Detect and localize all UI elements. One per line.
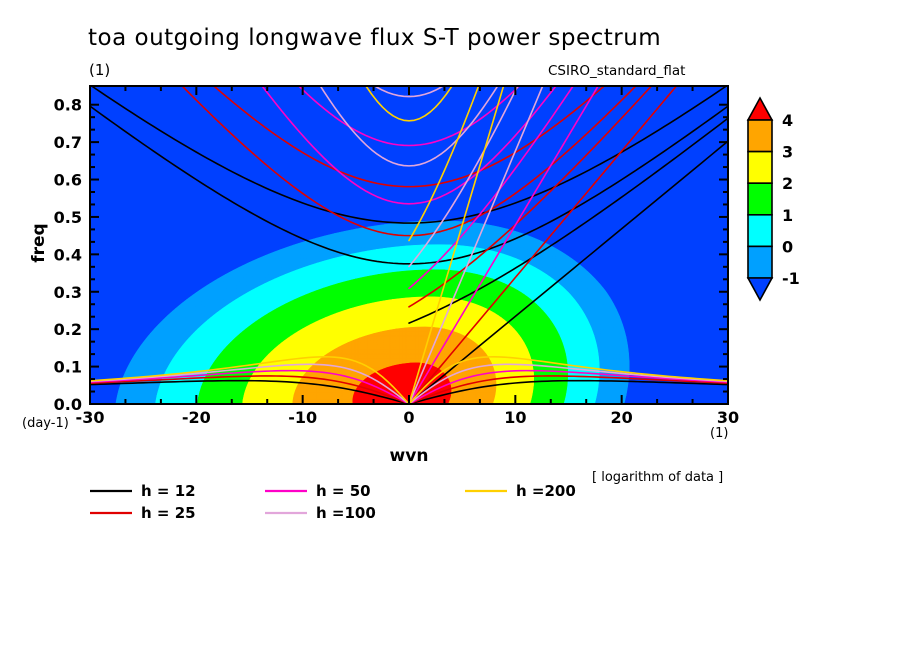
y-tick-label: 0.3 bbox=[54, 283, 82, 302]
power-spectrum-figure: toa outgoing longwave flux S-T power spe… bbox=[0, 0, 904, 654]
colorbar-segment bbox=[748, 246, 772, 278]
dataset-label: CSIRO_standard_flat bbox=[548, 63, 685, 79]
y-axis-unit: (day-1) bbox=[22, 416, 69, 431]
x-tick-label: -20 bbox=[182, 408, 211, 427]
colorbar-segment bbox=[748, 215, 772, 247]
y-axis-tick-labels: 0.00.10.20.30.40.50.60.70.8 bbox=[54, 96, 82, 414]
y-tick-label: 0.4 bbox=[54, 245, 82, 264]
x-tick-label: 30 bbox=[717, 408, 739, 427]
colorbar-swatches bbox=[748, 98, 772, 300]
legend-label: h =200 bbox=[516, 482, 576, 500]
colorbar-tick-label: 3 bbox=[782, 143, 793, 162]
colorbar-tick-label: 1 bbox=[782, 206, 793, 225]
plot-area bbox=[90, 39, 728, 404]
colorbar-tick-label: -1 bbox=[782, 269, 800, 288]
legend-label: h = 12 bbox=[141, 482, 196, 500]
colorbar-segment bbox=[748, 152, 772, 184]
x-axis-unit: (1) bbox=[710, 426, 728, 441]
legend-label: h =100 bbox=[316, 504, 376, 522]
data-transform-note: [ logarithm of data ] bbox=[592, 470, 723, 485]
y-tick-label: 0.6 bbox=[54, 171, 82, 190]
x-tick-label: -10 bbox=[288, 408, 317, 427]
y-axis-title: freq bbox=[29, 223, 49, 262]
y-tick-label: 0.7 bbox=[54, 133, 82, 152]
x-tick-label: 0 bbox=[403, 408, 414, 427]
legend-label: h = 50 bbox=[316, 482, 371, 500]
colorbar-tick-label: 4 bbox=[782, 111, 793, 130]
x-tick-label: 20 bbox=[611, 408, 633, 427]
legend-label: h = 25 bbox=[141, 504, 196, 522]
colorbar-tick-label: 0 bbox=[782, 237, 793, 256]
y-tick-label: 0.1 bbox=[54, 358, 82, 377]
x-tick-label: 10 bbox=[504, 408, 526, 427]
y-tick-label: 0.5 bbox=[54, 208, 82, 227]
y-tick-label: 0.2 bbox=[54, 320, 82, 339]
colorbar-tick-label: 2 bbox=[782, 174, 793, 193]
y-tick-label: 0.0 bbox=[54, 395, 82, 414]
x-axis-title: wvn bbox=[390, 446, 429, 466]
colorbar-segment bbox=[748, 183, 772, 215]
colorbar-segment bbox=[748, 120, 772, 152]
subtitle-left: (1) bbox=[89, 61, 110, 79]
y-tick-label: 0.8 bbox=[54, 96, 82, 115]
page-title: toa outgoing longwave flux S-T power spe… bbox=[88, 25, 661, 51]
